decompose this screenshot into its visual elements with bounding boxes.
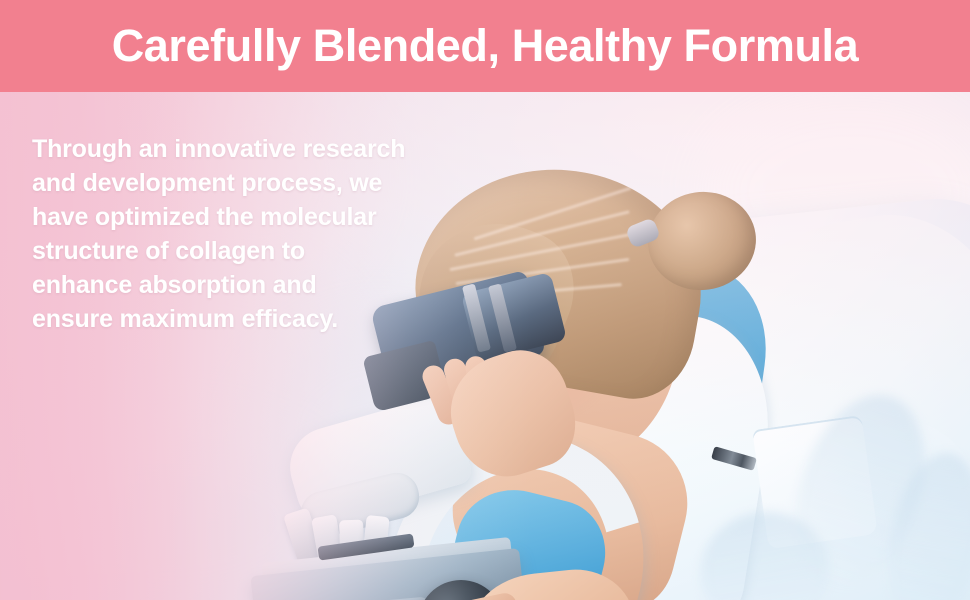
hero-photo: Through an innovative research and devel… [0,92,970,600]
body-copy-line: ensure maximum efficacy. [32,302,432,336]
headline-band: Carefully Blended, Healthy Formula [0,0,970,92]
hand-on-focus-knob [464,564,640,600]
body-copy-line: Through an innovative research [32,132,432,166]
product-feature-banner: Carefully Blended, Healthy Formula [0,0,970,600]
body-copy-line: structure of collagen to [32,234,432,268]
headline-title: Carefully Blended, Healthy Formula [0,0,970,92]
body-copy-line: have optimized the molecular [32,200,432,234]
body-copy-line: and development process, we [32,166,432,200]
body-copy-line: enhance absorption and [32,268,432,302]
body-copy: Through an innovative research and devel… [32,132,432,336]
